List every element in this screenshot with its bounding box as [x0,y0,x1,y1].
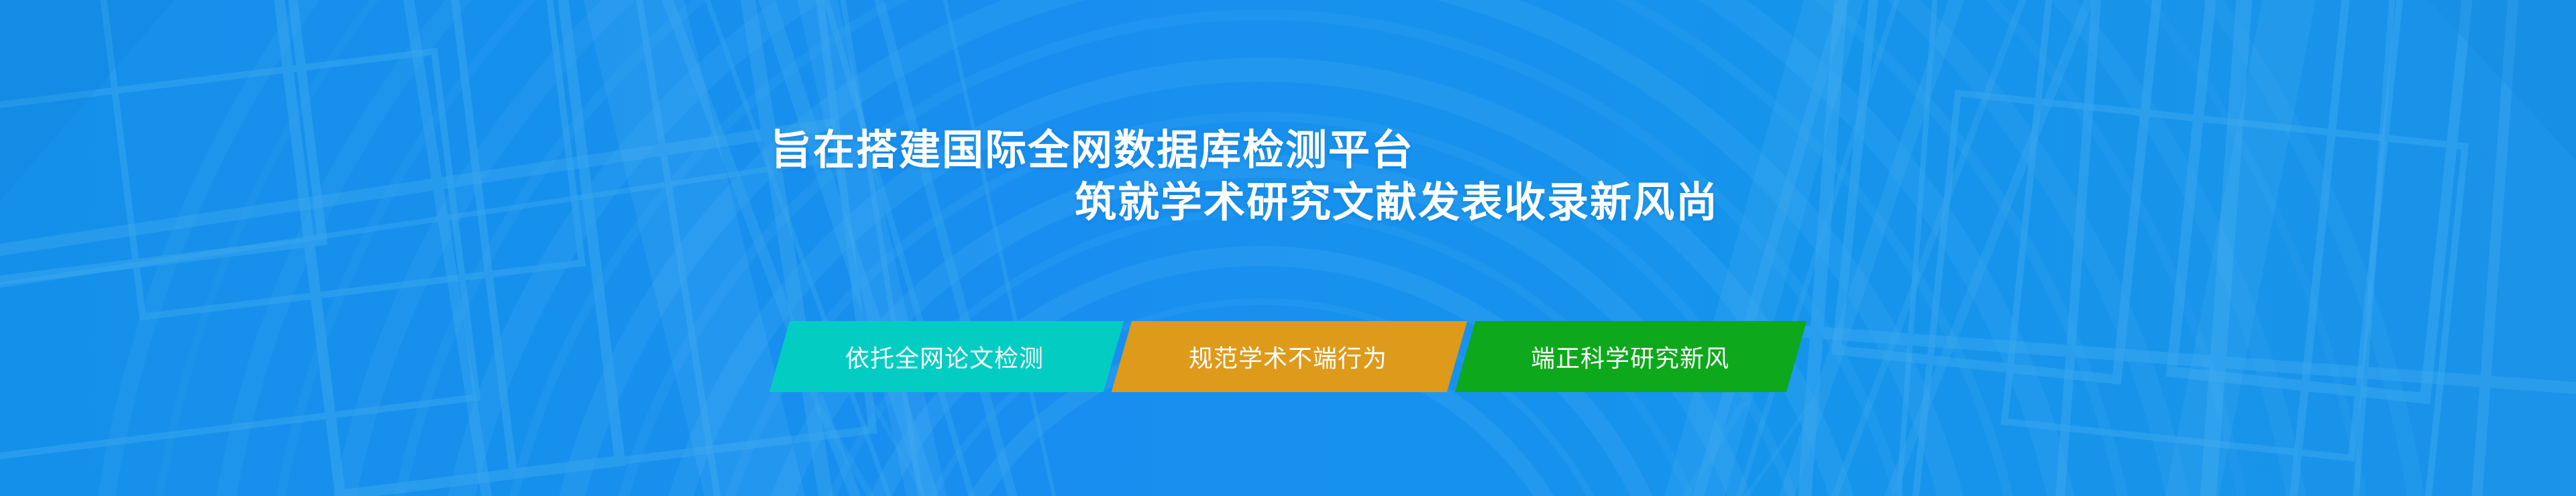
headline-line-2: 筑就学术研究文献发表收录新风尚 [0,177,2576,229]
banner-content: 旨在搭建国际全网数据库检测平台 筑就学术研究文献发表收录新风尚 依托全网论文检测… [0,0,2576,496]
feature-tag-2[interactable]: 规范学术不端行为 [1122,321,1457,392]
feature-tag-1-label: 依托全网论文检测 [845,339,1048,374]
promo-banner: 旨在搭建国际全网数据库检测平台 筑就学术研究文献发表收录新风尚 依托全网论文检测… [0,0,2576,496]
feature-tag-1[interactable]: 依托全网论文检测 [780,321,1114,392]
feature-tag-3[interactable]: 端正科学研究新风 [1465,321,1796,392]
feature-tag-3-label: 端正科学研究新风 [1531,339,1731,374]
headline-line-1: 旨在搭建国际全网数据库检测平台 [0,125,2576,177]
feature-tag-2-label: 规范学术不端行为 [1189,339,1390,374]
feature-tag-band: 依托全网论文检测 规范学术不端行为 端正科学研究新风 [780,321,1806,392]
headline-block: 旨在搭建国际全网数据库检测平台 筑就学术研究文献发表收录新风尚 [0,125,2576,229]
